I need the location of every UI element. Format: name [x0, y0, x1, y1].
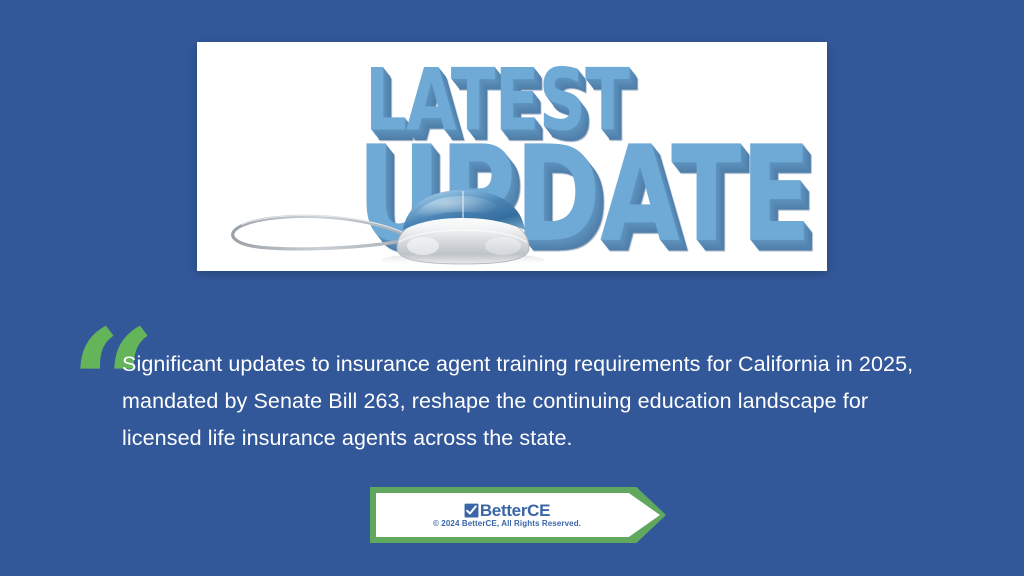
slide-canvas: LATEST UPDATE [0, 0, 1024, 576]
brand-lockup: BetterCE [464, 502, 550, 519]
hero-image-card: LATEST UPDATE [197, 42, 827, 271]
headline-word-latest: LATEST [365, 50, 629, 150]
footer-brand-banner: BetterCE © 2024 BetterCE, All Rights Res… [370, 487, 666, 543]
quote-text: Significant updates to insurance agent t… [122, 346, 952, 457]
copyright-text: © 2024 BetterCE, All Rights Reserved. [433, 520, 581, 528]
quote-block: “ Significant updates to insurance agent… [70, 312, 960, 462]
footer-banner-inner: BetterCE © 2024 BetterCE, All Rights Res… [376, 493, 660, 537]
check-square-icon [464, 503, 479, 518]
computer-mouse-icon [207, 172, 557, 267]
brand-name: BetterCE [480, 502, 550, 519]
